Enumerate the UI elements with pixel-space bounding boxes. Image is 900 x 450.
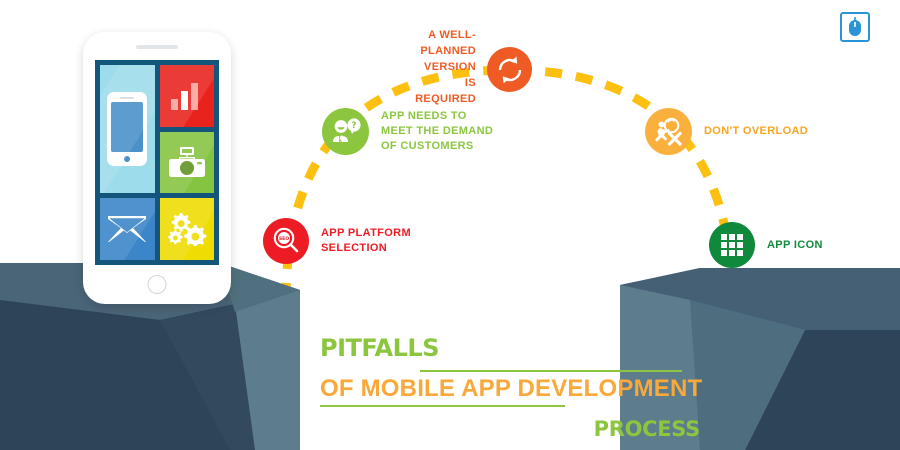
headline-rule-bottom — [320, 405, 565, 407]
headline-pitfalls: Pitfalls — [320, 327, 700, 363]
tile-bar-chart[interactable] — [160, 65, 215, 127]
smartphone-icon — [106, 91, 148, 167]
seo-magnifier-icon: SEO — [271, 226, 301, 256]
smartphone-device — [83, 32, 231, 304]
node-demand-label: APP NEEDS TO MEET THE DEMAND OF CUSTOMER… — [381, 109, 493, 154]
node-version-label: A WELL-PLANNED VERSION IS REQUIRED — [415, 27, 476, 107]
node-version-circle — [487, 47, 532, 92]
headline-rule-top — [420, 370, 682, 372]
tile-smartphone[interactable] — [100, 65, 155, 193]
svg-text:SEO: SEO — [279, 236, 289, 242]
tile-gears[interactable] — [160, 198, 215, 260]
camera-icon — [167, 146, 207, 178]
node-app-icon[interactable]: APP ICON — [709, 222, 823, 268]
phone-speaker — [136, 45, 178, 49]
person-overload-x-icon — [653, 117, 685, 147]
node-platform-label: APP PLATFORM SELECTION — [321, 226, 411, 256]
node-appicon-label: APP ICON — [767, 238, 823, 253]
tile-envelope[interactable] — [100, 198, 155, 260]
refresh-cycle-icon — [495, 55, 525, 85]
gears-icon — [167, 212, 207, 246]
phone-home-button[interactable] — [148, 275, 167, 294]
node-well-planned-version[interactable]: A WELL-PLANNED VERSION IS REQUIRED — [487, 47, 532, 92]
envelope-icon — [107, 216, 147, 243]
headline-block: Pitfalls OF MOBILE APP DEVELOPMENT Proce… — [320, 327, 700, 363]
headline-process: Process — [594, 409, 700, 444]
node-overload-circle — [645, 108, 692, 155]
node-app-needs-demand[interactable]: ? APP NEEDS TO MEET THE DEMAND OF CUSTOM… — [322, 108, 493, 155]
node-overload-label: DON'T OVERLOAD — [704, 124, 808, 139]
svg-text:?: ? — [351, 121, 356, 131]
node-demand-circle: ? — [322, 108, 369, 155]
headline-main: OF MOBILE APP DEVELOPMENT — [320, 375, 702, 403]
infographic-canvas: SEO APP PLATFORM SELECTION ? APP NEEDS T… — [0, 0, 900, 450]
grid-squares-icon — [720, 233, 744, 257]
node-dont-overload[interactable]: DON'T OVERLOAD — [645, 108, 808, 155]
node-platform-circle: SEO — [263, 218, 309, 264]
node-appicon-circle — [709, 222, 755, 268]
bar-chart-icon — [169, 81, 205, 111]
people-question-icon: ? — [330, 117, 362, 147]
phone-screen — [95, 60, 219, 265]
tile-camera[interactable] — [160, 132, 215, 194]
node-app-platform-selection[interactable]: SEO APP PLATFORM SELECTION — [263, 218, 411, 264]
